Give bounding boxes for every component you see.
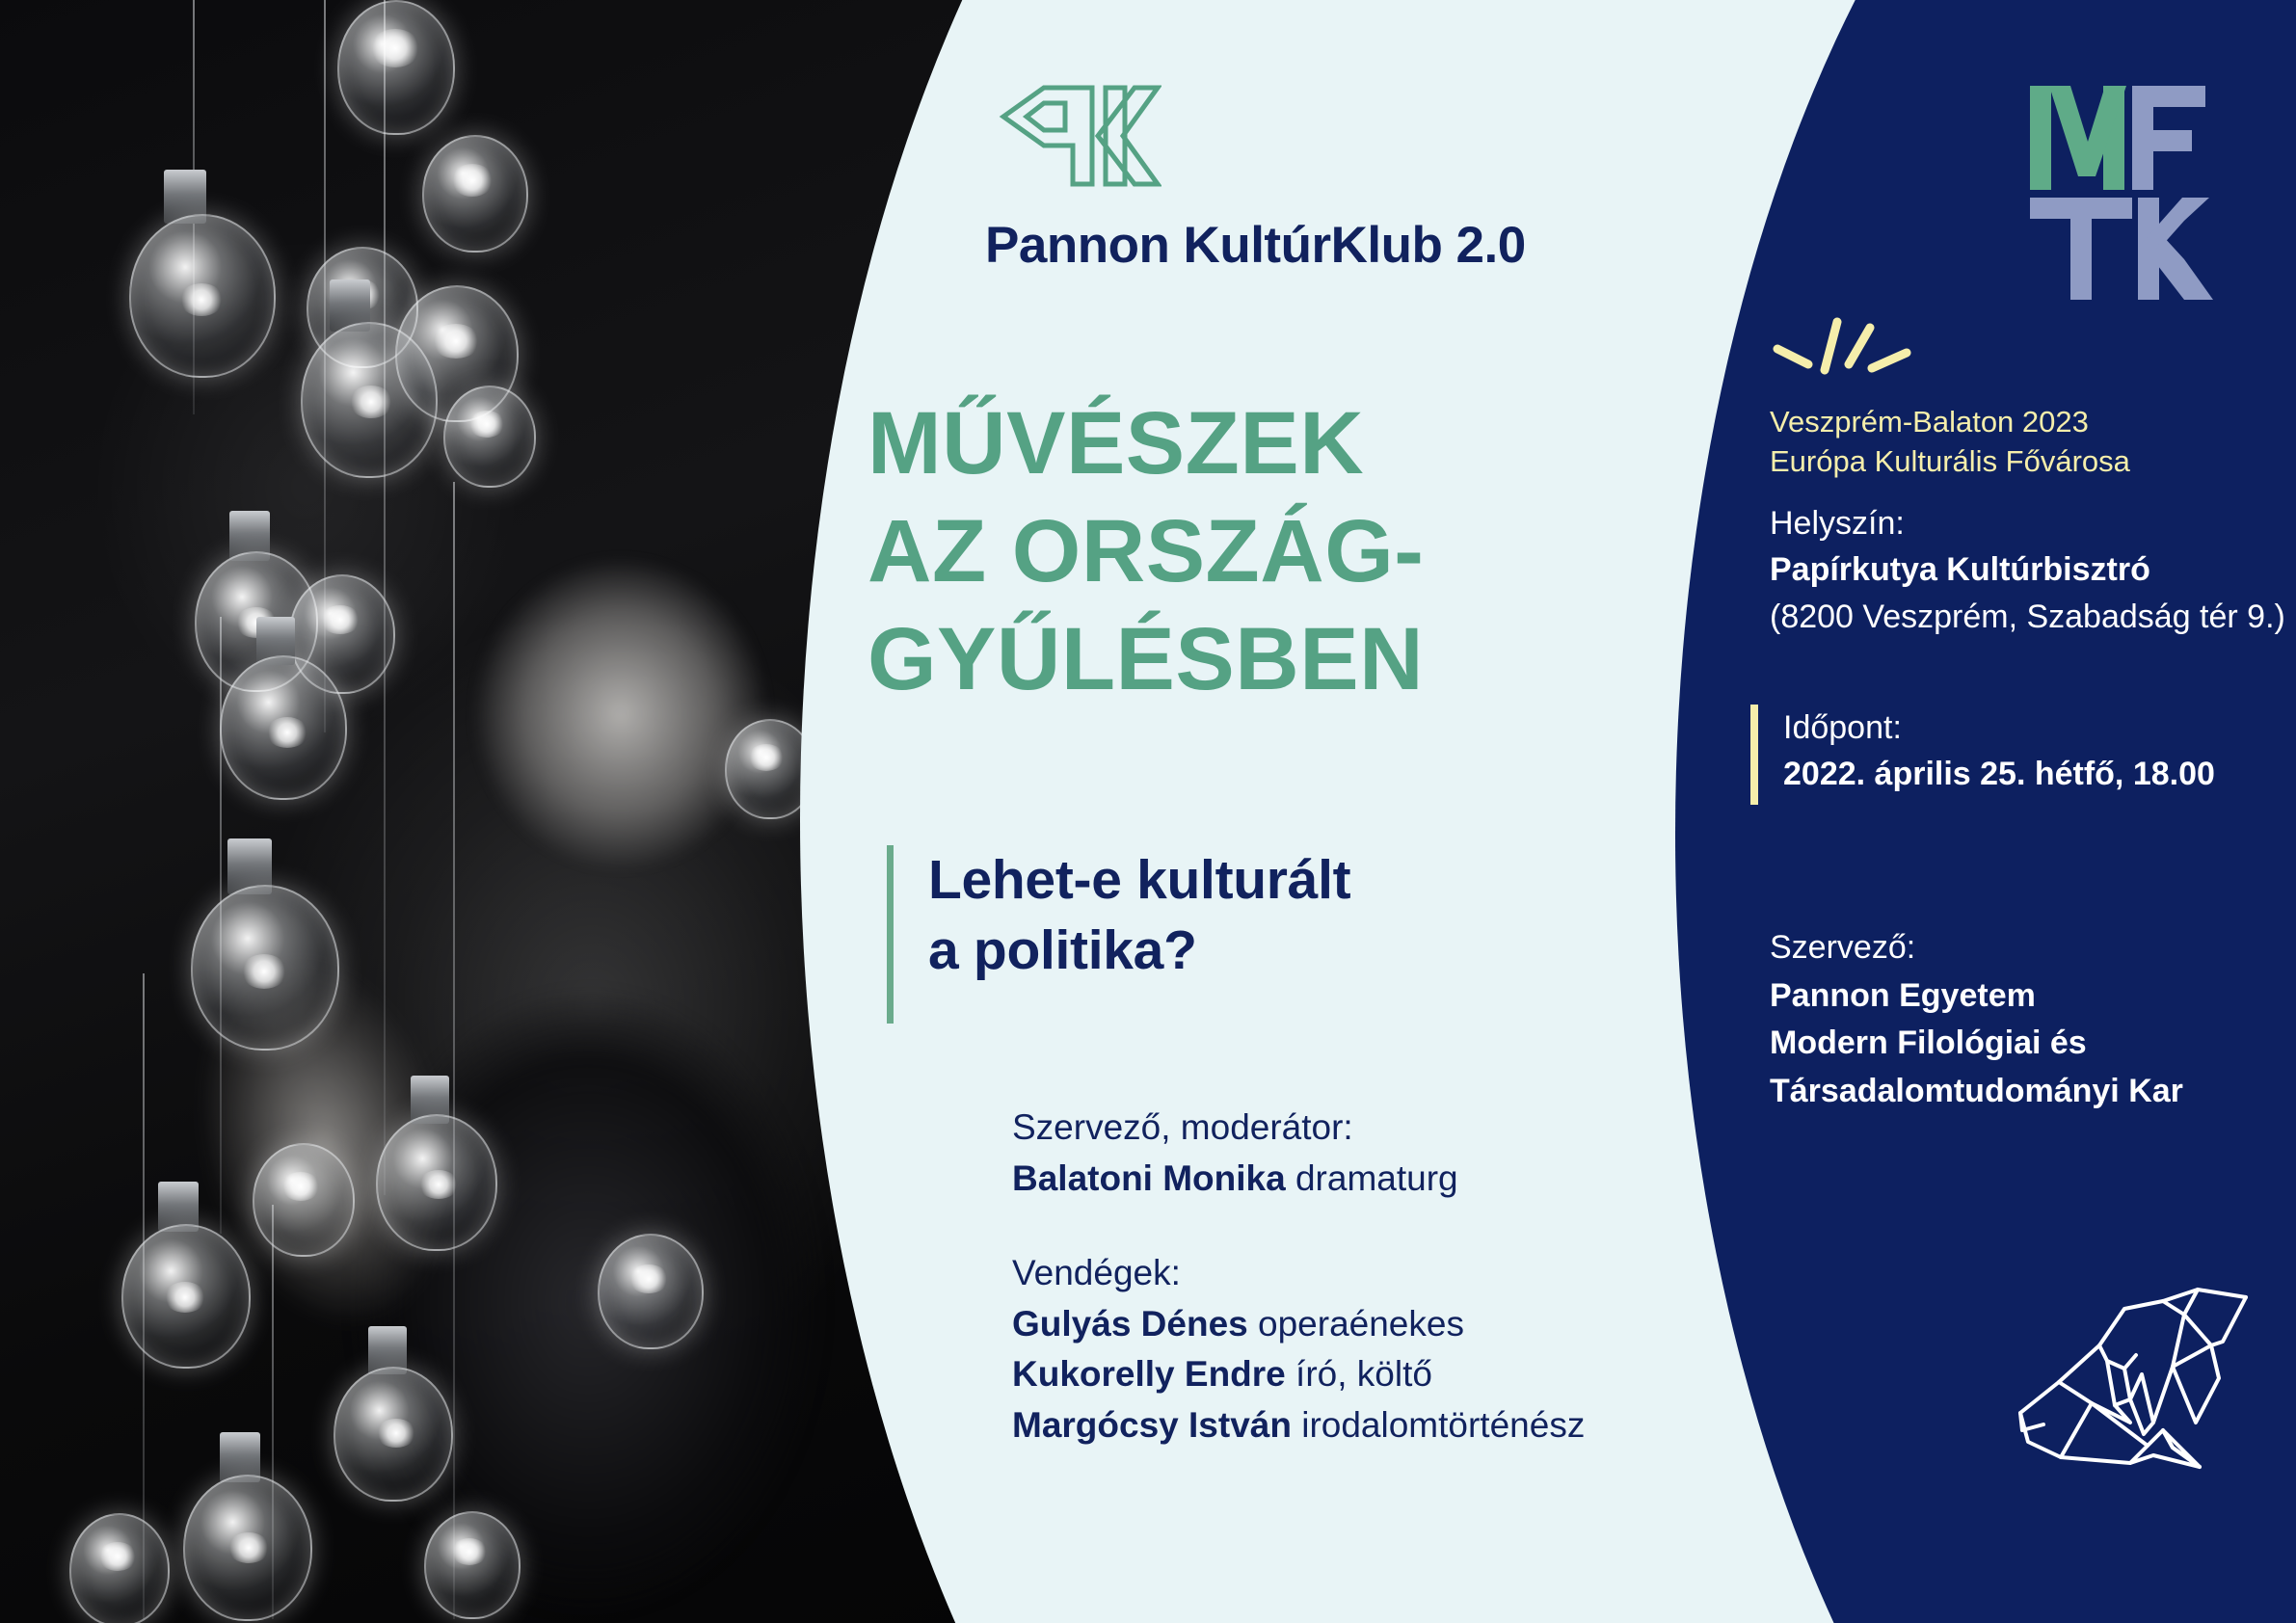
guests-block: Vendégek: Gulyás Dénes operaénekes Kukor… <box>1012 1248 1585 1450</box>
moderator-block: Szervező, moderátor: Balatoni Monika dra… <box>1012 1103 1585 1204</box>
subtitle-line: a politika? <box>928 916 1350 986</box>
moderator-label: Szervező, moderátor: <box>1012 1103 1585 1154</box>
subtitle-line: Lehet-e kulturált <box>928 845 1350 916</box>
ecoc-text: Veszprém-Balaton 2023 Európa Kulturális … <box>1770 402 2130 481</box>
club-title: Pannon KultúrKlub 2.0 <box>985 216 1526 275</box>
datetime-value: 2022. április 25. hétfő, 18.00 <box>1783 751 2215 797</box>
main-content: Pannon KultúrKlub 2.0 MŰVÉSZEK AZ ORSZÁG… <box>964 0 1658 1623</box>
organizer-label: Szervező: <box>1770 924 2183 972</box>
guest-role: operaénekes <box>1248 1304 1464 1344</box>
mftk-logo-icon <box>2020 82 2242 308</box>
subtitle-accent-bar <box>887 845 894 1024</box>
info-sidebar: Veszprém-Balaton 2023 Európa Kulturális … <box>1743 0 2296 1623</box>
datetime-text: Időpont: 2022. április 25. hétfő, 18.00 <box>1783 705 2215 805</box>
guest-name: Kukorelly Endre <box>1012 1354 1286 1394</box>
venue-block: Helyszín: Papírkutya Kultúrbisztró (8200… <box>1770 500 2285 640</box>
headline-line: GYŰLÉSBEN <box>868 605 1658 713</box>
venue-address: (8200 Veszprém, Szabadság tér 9.) <box>1770 594 2285 640</box>
event-poster: Pannon KultúrKlub 2.0 MŰVÉSZEK AZ ORSZÁG… <box>0 0 2296 1623</box>
guests-label: Vendégek: <box>1012 1248 1585 1299</box>
datetime-block: Időpont: 2022. április 25. hétfő, 18.00 <box>1750 705 2215 805</box>
guest-role: író, költő <box>1286 1354 1432 1394</box>
poster-headline: MŰVÉSZEK AZ ORSZÁG- GYŰLÉSBEN <box>868 389 1658 714</box>
datetime-label: Időpont: <box>1783 705 2215 751</box>
guest-name: Margócsy István <box>1012 1405 1292 1445</box>
organizer-block: Szervező: Pannon Egyetem Modern Filológi… <box>1770 924 2183 1116</box>
dog-head-line-art-icon <box>1984 1253 2263 1489</box>
datetime-accent-bar <box>1750 705 1758 805</box>
organizer-line: Pannon Egyetem <box>1770 972 2183 1021</box>
organizer-line: Modern Filológiai és <box>1770 1020 2183 1068</box>
venue-label: Helyszín: <box>1770 500 2285 546</box>
moderator-role: dramaturg <box>1286 1158 1458 1198</box>
guest-entry: Margócsy István irodalomtörténész <box>1012 1400 1585 1451</box>
ecoc-block: Veszprém-Balaton 2023 Európa Kulturális … <box>1770 316 2130 481</box>
ecoc-line-1: Veszprém-Balaton 2023 <box>1770 402 2130 441</box>
subtitle-text: Lehet-e kulturált a politika? <box>928 845 1350 1024</box>
venue-name: Papírkutya Kultúrbisztró <box>1770 546 2285 593</box>
guest-entry: Gulyás Dénes operaénekes <box>1012 1299 1585 1350</box>
spark-burst-icon <box>1770 316 2130 381</box>
guest-name: Gulyás Dénes <box>1012 1304 1248 1344</box>
organizer-line: Társadalomtudományi Kar <box>1770 1068 2183 1116</box>
headline-line: AZ ORSZÁG- <box>868 497 1658 605</box>
moderator-entry: Balatoni Monika dramaturg <box>1012 1154 1585 1205</box>
ecoc-line-2: Európa Kulturális Fővárosa <box>1770 441 2130 481</box>
guest-role: irodalomtörténész <box>1292 1405 1585 1445</box>
credits-section: Szervező, moderátor: Balatoni Monika dra… <box>1012 1103 1585 1495</box>
poster-subtitle: Lehet-e kulturált a politika? <box>887 845 1350 1024</box>
bulb-wire <box>453 482 455 1619</box>
guest-entry: Kukorelly Endre író, költő <box>1012 1349 1585 1400</box>
pk-monogram-icon <box>998 82 1161 195</box>
headline-line: MŰVÉSZEK <box>868 389 1658 497</box>
moderator-name: Balatoni Monika <box>1012 1158 1286 1198</box>
